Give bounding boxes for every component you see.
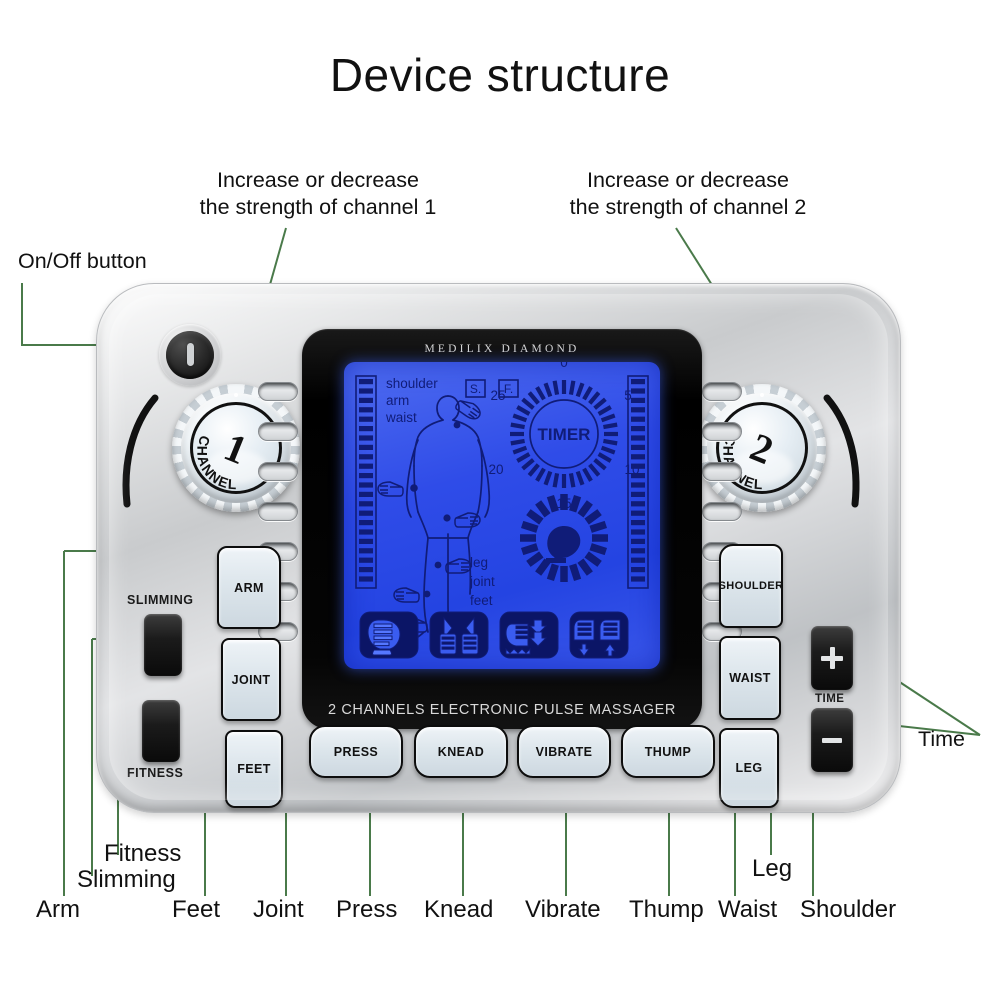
plus-icon [821,647,843,669]
waist-button-label: WAIST [729,671,771,685]
thump-button-label: THUMP [645,745,691,759]
mode-icon-row [360,612,628,658]
channel-1-arc-decor [111,392,163,510]
slot[interactable] [258,382,298,401]
knead-button-label: KNEAD [438,745,484,759]
right-bargraph [628,376,648,588]
minus-icon [822,738,842,743]
callout-channel1-line1: Increase or decrease [168,167,468,194]
acupoint-dots [410,422,460,628]
brand-bottom-label: 2 CHANNELS ELECTRONIC PULSE MASSAGER [302,702,702,718]
timer-tick-10: 10 [624,462,639,477]
massager-device: CHANNEL 1 CHANNEL 2 [96,283,901,813]
vibrate-icon [500,612,558,658]
bottom-label-fitness: Fitness [104,840,181,868]
thump-button[interactable]: THUMP [621,725,715,778]
callout-channel2-line1: Increase or decrease [538,167,838,194]
callout-power-line: On/Off button [18,248,147,275]
callout-time: Time [918,726,965,753]
lcd-graphics: S. F. shoulder arm waist leg joint [344,362,660,669]
feet-button[interactable]: FEET [225,730,283,808]
label-leg: leg [470,555,488,570]
bottom-label-waist: Waist [718,896,777,924]
bottom-label-arm: Arm [36,896,80,924]
callout-time-line: Time [918,726,965,753]
callout-power: On/Off button [18,248,147,275]
vibrate-button-label: VIBRATE [536,745,593,759]
slot[interactable] [258,502,298,521]
pulse-ring [520,494,608,582]
timer-tick-5: 5 [624,388,632,403]
channel-2-arc-decor [819,392,871,510]
bottom-label-press: Press [336,896,397,924]
slot[interactable] [702,382,742,401]
shoulder-button[interactable]: SHOULDER [719,544,783,628]
page-title: Device structure [0,48,1000,102]
press-button-label: PRESS [334,745,378,759]
power-icon [187,343,194,366]
callout-channel2: Increase or decrease the strength of cha… [538,167,838,222]
knead-button[interactable]: KNEAD [414,725,508,778]
label-arm: arm [386,393,409,408]
slot[interactable] [258,462,298,481]
brand-top-label: MEDILIX DIAMOND [302,343,702,355]
label-shoulder: shoulder [386,376,438,391]
time-label: TIME [815,693,844,705]
bottom-label-knead: Knead [424,896,493,924]
knob-indicator-dot [760,393,764,397]
arm-button[interactable]: ARM [217,546,281,629]
tag-s-text: S. [470,382,481,396]
bottom-label-feet: Feet [172,896,220,924]
bottom-label-vibrate: Vibrate [525,896,601,924]
label-joint: joint [469,574,495,589]
lcd-screen: S. F. shoulder arm waist leg joint [344,362,660,669]
bottom-label-thump: Thump [629,896,704,924]
press-button[interactable]: PRESS [309,725,403,778]
label-feet: feet [470,593,493,608]
bottom-label-slimming: Slimming [77,866,176,894]
waist-button[interactable]: WAIST [719,636,781,720]
slimming-label: SLIMMING [127,593,194,607]
shoulder-button-label: SHOULDER [719,580,784,592]
left-bargraph [356,376,376,588]
mode-tag-s: S. [466,380,485,397]
callout-channel1-line2: the strength of channel 1 [168,194,468,221]
bottom-label-leg: Leg [752,855,792,883]
slot[interactable] [702,502,742,521]
fitness-button[interactable] [142,700,180,762]
thump-icon [570,612,628,658]
joint-button-label: JOINT [232,673,271,687]
label-waist: waist [385,410,417,425]
bottom-label-shoulder: Shoulder [800,896,896,924]
joint-button[interactable]: JOINT [221,638,281,721]
power-button[interactable] [166,331,214,379]
time-plus-button[interactable] [811,626,853,690]
slot[interactable] [702,462,742,481]
vibrate-button[interactable]: VIBRATE [517,725,611,778]
timer-tick-0: 0 [560,362,568,370]
callout-channel1: Increase or decrease the strength of cha… [168,167,468,222]
timer-tick-20: 20 [488,462,503,477]
knead-icon [430,612,488,658]
timer-center-label: TIMER [538,425,591,444]
knob-indicator-dot [234,393,238,397]
leg-button-label: LEG [736,761,763,775]
slot[interactable] [702,422,742,441]
arm-button-label: ARM [234,581,264,595]
slot[interactable] [258,422,298,441]
power-button-well [159,324,221,386]
timer-tick-25: 25 [490,388,505,403]
press-icon [360,612,418,658]
bottom-label-joint: Joint [253,896,304,924]
slimming-button[interactable] [144,614,182,676]
callout-channel2-line2: the strength of channel 2 [538,194,838,221]
pointer-hands [378,396,483,632]
leg-button[interactable]: LEG [719,728,779,808]
time-minus-button[interactable] [811,708,853,772]
feet-button-label: FEET [237,762,271,776]
fitness-label: FITNESS [127,766,183,780]
lcd-bezel: MEDILIX DIAMOND 2 CHANNELS ELECTRONIC PU… [302,329,702,729]
